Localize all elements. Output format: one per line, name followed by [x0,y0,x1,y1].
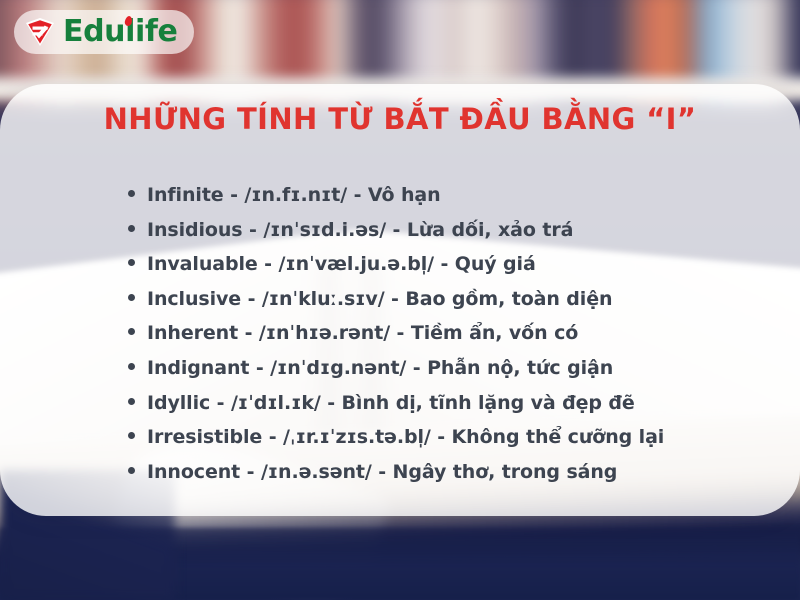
vocab-entry: Invaluable - /ɪnˈvæl.ju.ə.bl̩/ - Quý giá [147,253,536,275]
brand-logo[interactable]: Edulife [14,10,194,54]
vocab-entry: Indignant - /ɪnˈdɪg.nənt/ - Phẫn nộ, tức… [147,357,613,379]
list-item: Idyllic - /ɪˈdɪl.ɪk/ - Bình dị, tĩnh lặn… [128,392,782,427]
bullet-dot-icon [128,398,135,405]
bullet-dot-icon [128,467,135,474]
bullet-dot-icon [128,363,135,370]
vocab-entry: Infinite - /ɪn.fɪ.nɪt/ - Vô hạn [147,184,441,206]
list-item: Inclusive - /ɪnˈkluː.sɪv/ - Bao gồm, toà… [128,288,782,323]
vocab-entry: Idyllic - /ɪˈdɪl.ɪk/ - Bình dị, tĩnh lặn… [147,392,635,414]
list-item: Indignant - /ɪnˈdɪg.nənt/ - Phẫn nộ, tức… [128,357,782,392]
bullet-dot-icon [128,328,135,335]
bullet-dot-icon [128,225,135,232]
list-item: Inherent - /ɪnˈhɪə.rənt/ - Tiềm ẩn, vốn … [128,322,782,357]
list-item: Irresistible - /ˌɪr.ɪˈzɪs.tə.bl̩/ - Khôn… [128,426,782,461]
list-item: Innocent - /ɪn.ə.sənt/ - Ngây thơ, trong… [128,461,782,496]
vocabulary-list: Infinite - /ɪn.fɪ.nɪt/ - Vô hạn Insidiou… [128,184,782,495]
list-item: Invaluable - /ɪnˈvæl.ju.ə.bl̩/ - Quý giá [128,253,782,288]
vocab-entry: Innocent - /ɪn.ə.sənt/ - Ngây thơ, trong… [147,461,617,483]
bullet-dot-icon [128,190,135,197]
page-title: NHỮNG TÍNH TỪ BẮT ĐẦU BẰNG “I” [0,102,800,136]
bullet-dot-icon [128,259,135,266]
list-item: Insidious - /ɪnˈsɪd.i.əs/ - Lừa dối, xảo… [128,219,782,254]
bullet-dot-icon [128,432,135,439]
brand-name-text: Edulife [63,14,178,49]
vocab-entry: Inherent - /ɪnˈhɪə.rənt/ - Tiềm ẩn, vốn … [147,322,578,344]
vocab-entry: Insidious - /ɪnˈsɪd.i.əs/ - Lừa dối, xảo… [147,219,573,241]
bullet-dot-icon [128,294,135,301]
edulife-shield-icon [24,16,56,48]
vocab-entry: Inclusive - /ɪnˈkluː.sɪv/ - Bao gồm, toà… [147,288,612,310]
content-card: NHỮNG TÍNH TỪ BẮT ĐẦU BẰNG “I” Infinite … [0,84,800,516]
brand-name: Edulife [63,17,178,47]
vocab-entry: Irresistible - /ˌɪr.ɪˈzɪs.tə.bl̩/ - Khôn… [147,426,664,448]
infographic-canvas: Edulife NHỮNG TÍNH TỪ BẮT ĐẦU BẰNG “I” I… [0,0,800,600]
list-item: Infinite - /ɪn.fɪ.nɪt/ - Vô hạn [128,184,782,219]
